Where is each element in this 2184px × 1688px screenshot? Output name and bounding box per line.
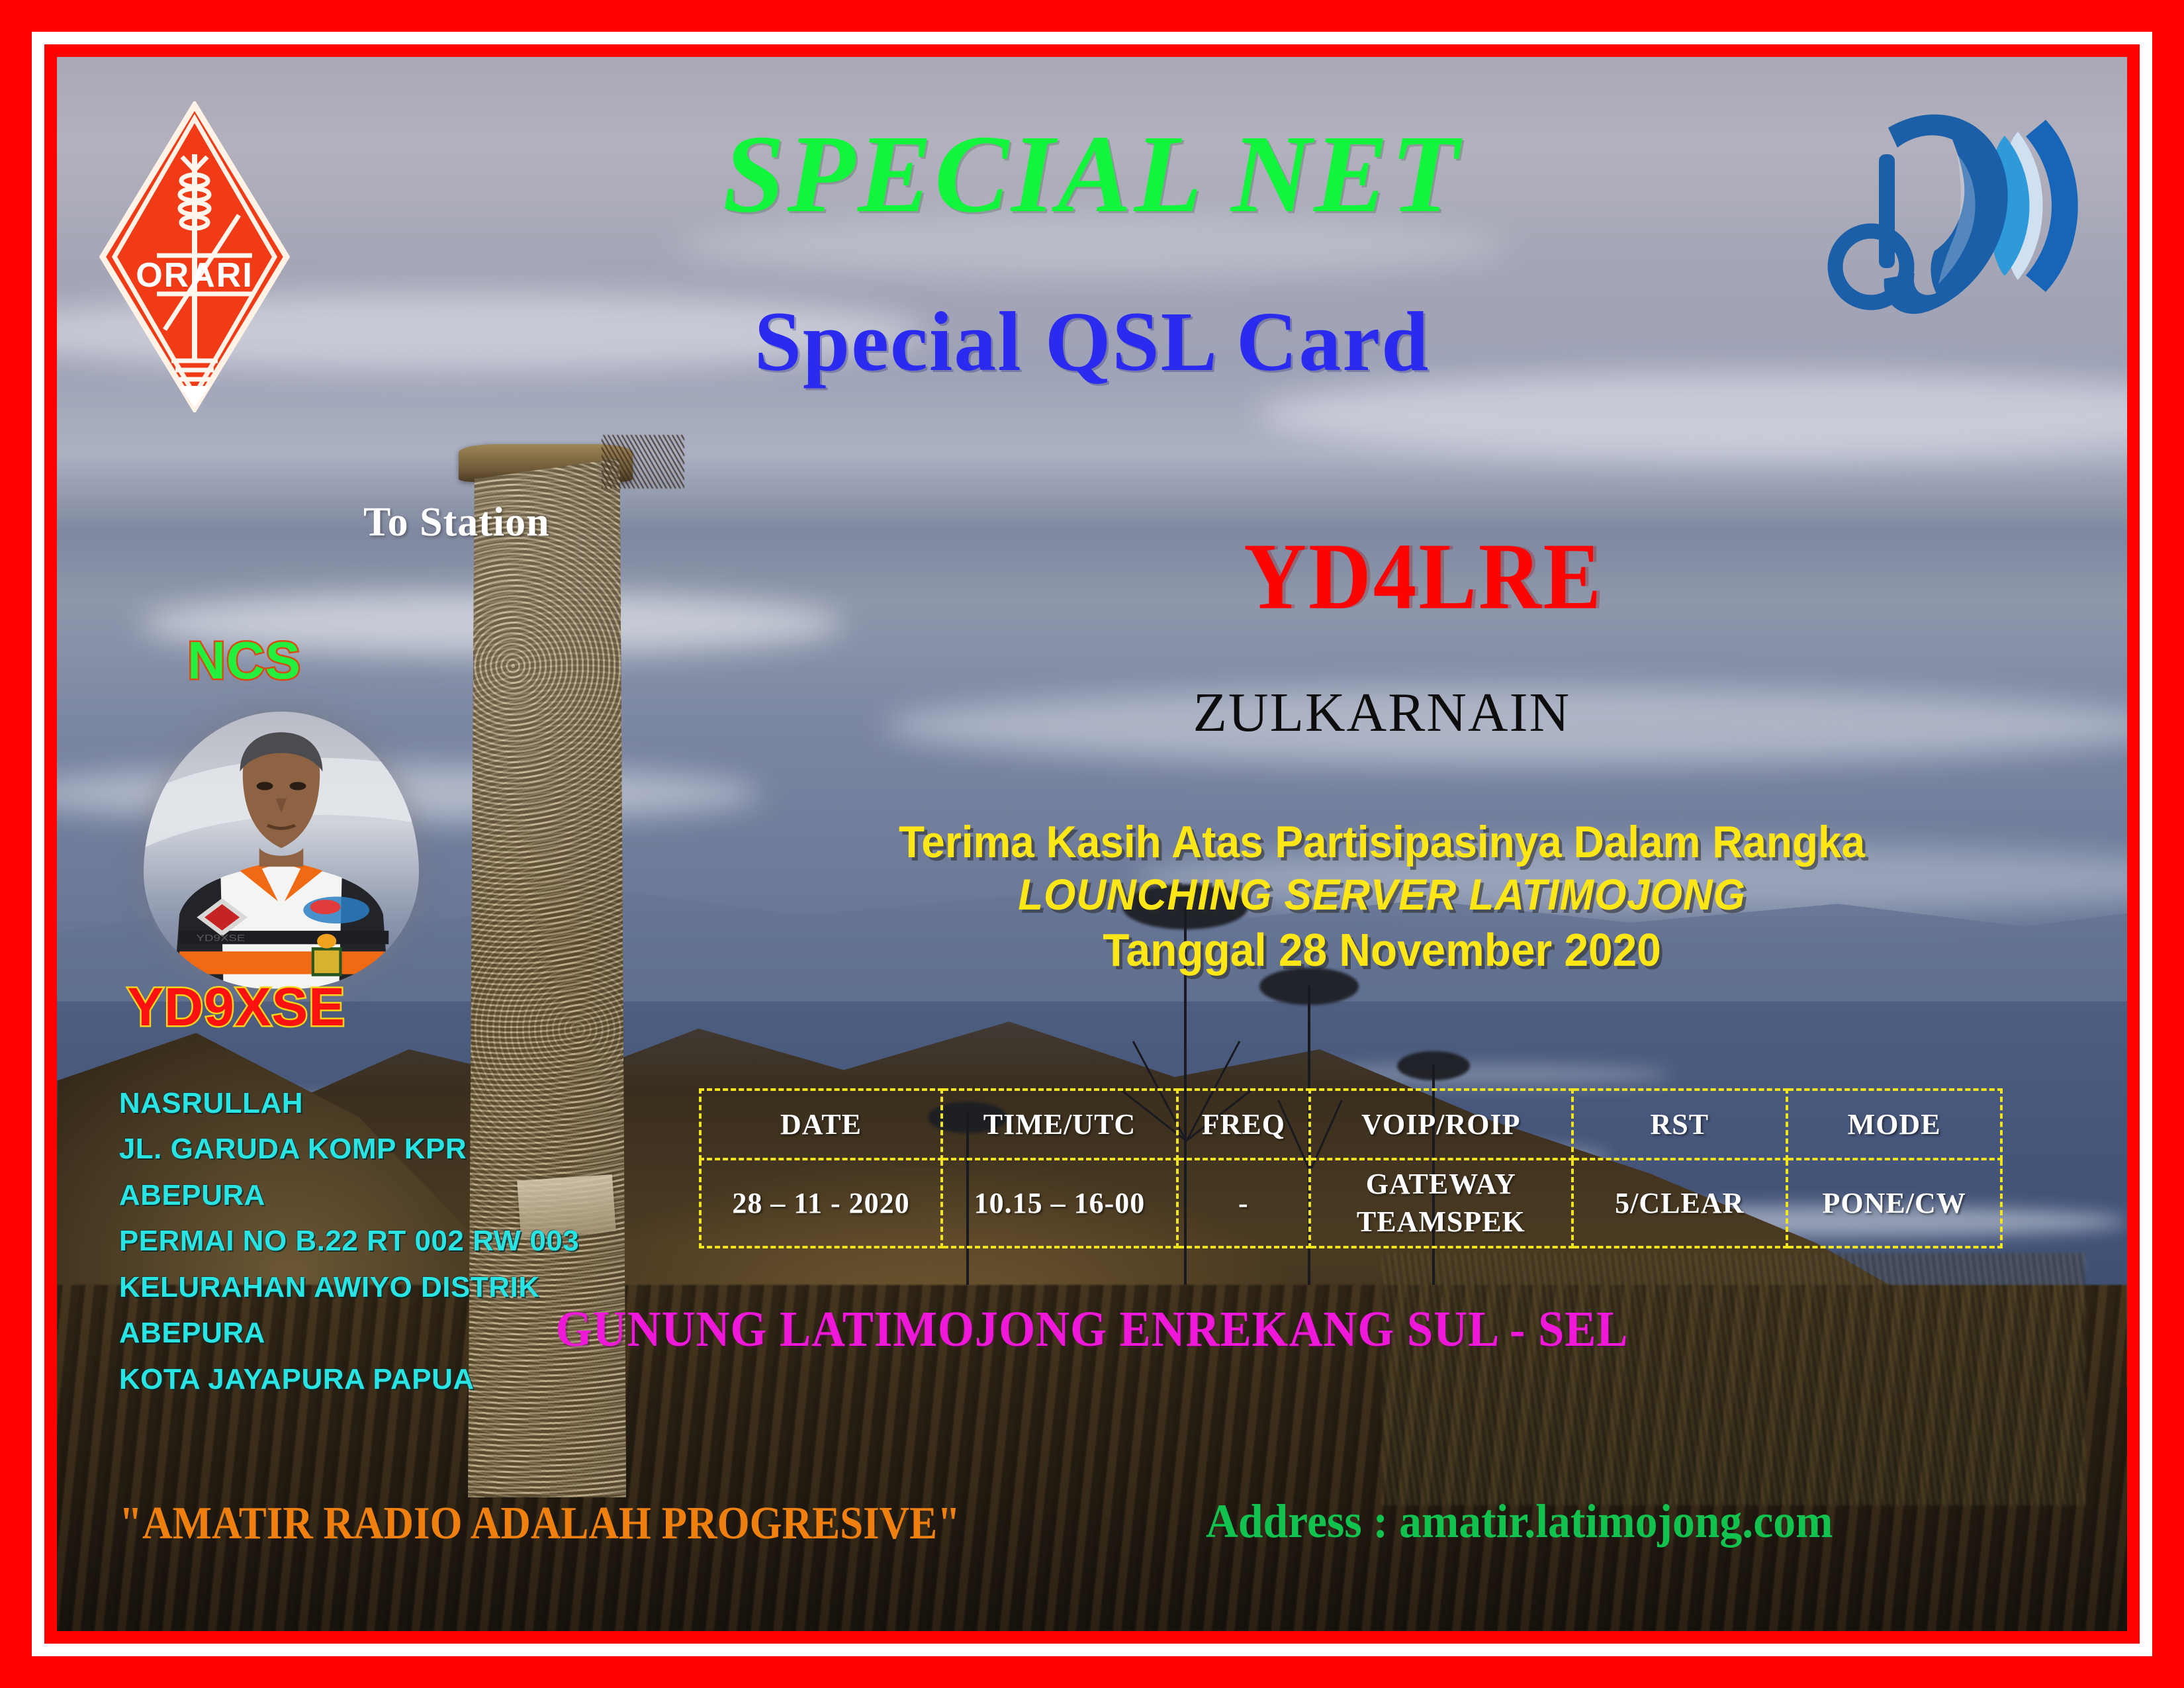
to-station-label: To Station	[363, 499, 550, 546]
table-row: 28 – 11 - 2020 10.15 – 16-00 - GATEWAY T…	[700, 1159, 2002, 1248]
table-header-row: DATE TIME/UTC FREQ VOIP/ROIP RST MODE	[700, 1090, 2002, 1159]
cell-rst: 5/CLEAR	[1572, 1159, 1787, 1248]
table-header-freq: FREQ	[1177, 1090, 1310, 1159]
cell-mode: PONE/CW	[1787, 1159, 2001, 1248]
cell-voip-line-2: TEAMSPEK	[1311, 1203, 1571, 1241]
grass-tuft-on-pillar	[602, 435, 684, 489]
cell-time: 10.15 – 16-00	[942, 1159, 1177, 1248]
address-line: NASRULLAH	[119, 1080, 579, 1127]
address-line: KOTA JAYAPURA PAPUA	[119, 1356, 579, 1403]
operator-name: ZULKARNAIN	[885, 685, 1878, 741]
cell-voip: GATEWAY TEAMSPEK	[1310, 1159, 1572, 1248]
event-line-2: LOUNCHING SERVER LATIMOJONG	[788, 868, 1976, 921]
page-title: SPECIAL NET	[57, 118, 2127, 230]
qsl-card-outer-frame: ORARI	[0, 0, 2184, 1688]
ncs-callsign: YD9XSE	[127, 976, 345, 1039]
table-header-time: TIME/UTC	[942, 1090, 1177, 1159]
page-subtitle: Special QSL Card	[57, 299, 2127, 384]
footer-address: Address : amatir.latimojong.com	[1206, 1494, 1833, 1549]
cell-freq: -	[1177, 1159, 1310, 1248]
location-text: GUNUNG LATIMOJONG ENREKANG SUL - SEL	[129, 1301, 2054, 1358]
event-line-1: Terima Kasih Atas Partisipasinya Dalam R…	[788, 816, 1976, 868]
qsl-card-inner-red-frame: ORARI	[44, 44, 2140, 1644]
qso-details-table: DATE TIME/UTC FREQ VOIP/ROIP RST MODE 28…	[699, 1088, 2003, 1249]
event-line-3: Tanggal 28 November 2020	[788, 921, 1976, 979]
orari-logo-text: ORARI	[136, 256, 253, 295]
address-line: ABEPURA	[119, 1172, 579, 1219]
cell-voip-line-1: GATEWAY	[1311, 1165, 1571, 1203]
table-header-voip: VOIP/ROIP	[1310, 1090, 1572, 1159]
recipient-callsign: YD4LRE	[907, 530, 1940, 625]
cell-date: 28 – 11 - 2020	[700, 1159, 942, 1248]
grass-patch	[1382, 1253, 2086, 1505]
table-header-mode: MODE	[1787, 1090, 2001, 1159]
svg-text:YD9XSE: YD9XSE	[197, 933, 246, 943]
table-header-rst: RST	[1572, 1090, 1787, 1159]
footer-motto: "AMATIR RADIO ADALAH PROGRESIVE"	[119, 1497, 960, 1550]
address-line: PERMAI NO B.22 RT 002 RW 003	[119, 1218, 579, 1264]
table-header-date: DATE	[700, 1090, 942, 1159]
ncs-label: NCS	[187, 630, 301, 691]
qsl-card-white-gap: ORARI	[32, 32, 2152, 1656]
event-thanks-block: Terima Kasih Atas Partisipasinya Dalam R…	[751, 816, 2013, 978]
address-line: JL. GARUDA KOMP KPR	[119, 1126, 579, 1172]
qsl-card-photo-area: ORARI	[57, 57, 2127, 1631]
